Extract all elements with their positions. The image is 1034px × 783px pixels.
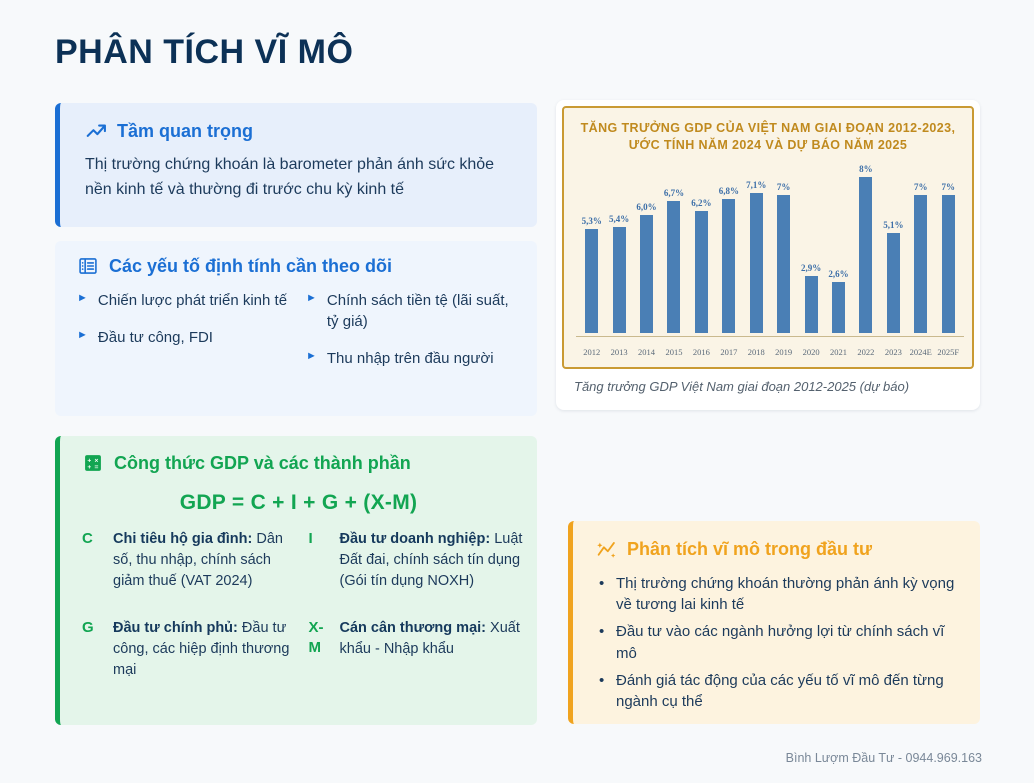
- chart-bar: [667, 201, 680, 333]
- list-item: •Đầu tư vào các ngành hưởng lợi từ chính…: [599, 621, 960, 665]
- dot-bullet-icon: •: [599, 573, 606, 617]
- list-item-label: Đánh giá tác động của các yếu tố vĩ mô đ…: [616, 670, 960, 714]
- qualitative-left-column: ► Chiến lược phát triển kinh tế ► Đầu tư…: [77, 290, 292, 386]
- chart-bar-value-label: 2,6%: [828, 269, 848, 279]
- analytics-sparkle-icon: [595, 538, 617, 560]
- arrow-bullet-icon: ►: [77, 327, 88, 348]
- chart-x-tick-label: 2017: [715, 347, 742, 357]
- svg-text:×: ×: [95, 458, 99, 465]
- svg-text:+: +: [87, 458, 91, 465]
- gdp-component-text: Đầu tư chính phủ: Đầu tư công, các hiệp …: [113, 618, 297, 681]
- gdp-card-header: + × + = Công thức GDP và các thành phần: [60, 436, 537, 475]
- chart-x-tick-label: 2012: [578, 347, 605, 357]
- chart-bar-value-label: 6,2%: [691, 198, 711, 208]
- list-item: ► Đầu tư công, FDI: [77, 327, 292, 348]
- gdp-symbol: C: [82, 529, 104, 592]
- qualitative-columns: ► Chiến lược phát triển kinh tế ► Đầu tư…: [55, 278, 537, 386]
- chart-bar-value-label: 5,1%: [883, 220, 903, 230]
- chart-bar-group: 7%: [770, 164, 797, 333]
- calculator-icon: + × + =: [82, 452, 104, 474]
- chart-bar-group: 8%: [852, 164, 879, 333]
- chart-x-tick-label: 2018: [743, 347, 770, 357]
- list-item-label: Đầu tư công, FDI: [98, 327, 213, 348]
- chart-bar: [585, 229, 598, 333]
- chart-bar: [832, 282, 845, 333]
- qualitative-card-header: Các yếu tố định tính cần theo dõi: [55, 241, 537, 278]
- chart-x-tick-label: 2013: [605, 347, 632, 357]
- chart-bar: [887, 233, 900, 333]
- chart-x-tick-label: 2024E: [907, 347, 934, 357]
- chart-x-tick-label: 2016: [688, 347, 715, 357]
- gdp-growth-chart-card: TĂNG TRƯỞNG GDP CỦA VIỆT NAM GIAI ĐOẠN 2…: [556, 100, 980, 410]
- invest-card-title: Phân tích vĩ mô trong đầu tư: [627, 538, 872, 561]
- chart-x-tick-label: 2021: [825, 347, 852, 357]
- chart-bar-value-label: 2,9%: [801, 263, 821, 273]
- gdp-component-text: Cán cân thương mại: Xuất khẩu - Nhập khẩ…: [340, 618, 524, 660]
- chart-bar: [750, 193, 763, 333]
- list-item-label: Đầu tư vào các ngành hưởng lợi từ chính …: [616, 621, 960, 665]
- list-item: •Đánh giá tác động của các yếu tố vĩ mô …: [599, 670, 960, 714]
- chart-plot-area: 5,3%5,4%6,0%6,7%6,2%6,8%7,1%7%2,9%2,6%8%…: [578, 164, 962, 333]
- list-item-label: Chính sách tiền tệ (lãi suất, tỷ giá): [327, 290, 521, 333]
- importance-card-title: Tầm quan trọng: [117, 120, 253, 143]
- chart-bar-value-label: 7%: [914, 182, 928, 192]
- gdp-formula-card: + × + = Công thức GDP và các thành phần …: [55, 436, 537, 725]
- importance-card: Tầm quan trọng Thị trường chứng khoán là…: [55, 103, 537, 227]
- gdp-component-label: Chi tiêu hộ gia đình:: [113, 531, 252, 547]
- chart-x-tick-label: 2014: [633, 347, 660, 357]
- chart-bar-group: 6,0%: [633, 164, 660, 333]
- chart-bar-group: 5,4%: [605, 164, 632, 333]
- chart-bar-group: 6,8%: [715, 164, 742, 333]
- chart-bar-group: 5,3%: [578, 164, 605, 333]
- chart-x-tick-label: 2022: [852, 347, 879, 357]
- svg-text:=: =: [95, 464, 99, 471]
- chart-caption: Tăng trưởng GDP Việt Nam giai đoạn 2012-…: [562, 369, 974, 394]
- list-item-label: Chiến lược phát triển kinh tế: [98, 290, 287, 311]
- list-item: ► Thu nhập trên đầu người: [306, 348, 521, 369]
- gdp-component: G Đầu tư chính phủ: Đầu tư công, các hiệ…: [82, 618, 297, 695]
- chart-x-tick-labels: 2012201320142015201620172018201920202021…: [578, 347, 962, 357]
- gdp-card-title: Công thức GDP và các thành phần: [114, 452, 411, 475]
- chart-bar-value-label: 6,0%: [636, 202, 656, 212]
- gdp-component: I Đầu tư doanh nghiệp: Luật Đất đai, chí…: [309, 529, 524, 606]
- list-item: •Thị trường chứng khoán thường phản ánh …: [599, 573, 960, 617]
- chart-bar-group: 7%: [907, 164, 934, 333]
- chart-x-axis: [576, 336, 964, 337]
- chart-x-tick-label: 2019: [770, 347, 797, 357]
- qualitative-card-title: Các yếu tố định tính cần theo dõi: [109, 255, 392, 278]
- gdp-component-label: Cán cân thương mại:: [340, 620, 487, 636]
- chart-bar: [914, 195, 927, 333]
- gdp-symbol: G: [82, 618, 104, 681]
- chart-bar: [613, 227, 626, 333]
- chart-bar-group: 7,1%: [743, 164, 770, 333]
- dot-bullet-icon: •: [599, 670, 606, 714]
- chart-bar-value-label: 6,7%: [664, 188, 684, 198]
- gdp-component-label: Đầu tư doanh nghiệp:: [340, 531, 491, 547]
- chart-bar: [722, 199, 735, 333]
- importance-card-body: Thị trường chứng khoán là barometer phản…: [60, 143, 537, 204]
- chart-bar-value-label: 8%: [859, 164, 873, 174]
- chart-bar: [859, 177, 872, 333]
- list-item: ► Chiến lược phát triển kinh tế: [77, 290, 292, 311]
- gdp-component: C Chi tiêu hộ gia đình: Dân số, thu nhập…: [82, 529, 297, 606]
- gdp-component-label: Đầu tư chính phủ:: [113, 620, 238, 636]
- list-item: ► Chính sách tiền tệ (lãi suất, tỷ giá): [306, 290, 521, 333]
- footer-credit: Bình Lượm Đầu Tư - 0944.969.163: [786, 751, 982, 765]
- arrow-bullet-icon: ►: [306, 348, 317, 369]
- page-title: PHÂN TÍCH VĨ MÔ: [55, 32, 353, 73]
- chart-x-tick-label: 2020: [797, 347, 824, 357]
- svg-text:+: +: [87, 464, 91, 471]
- chart-title: TĂNG TRƯỞNG GDP CỦA VIỆT NAM GIAI ĐOẠN 2…: [576, 120, 960, 155]
- chart-bar-value-label: 6,8%: [719, 186, 739, 196]
- arrow-bullet-icon: ►: [77, 290, 88, 311]
- chart-bar-group: 6,2%: [688, 164, 715, 333]
- chart-bar-group: 5,1%: [880, 164, 907, 333]
- chart-bar: [777, 195, 790, 333]
- qualitative-factors-card: Các yếu tố định tính cần theo dõi ► Chiế…: [55, 241, 537, 416]
- chart-bar-group: 7%: [934, 164, 961, 333]
- gdp-component: X-M Cán cân thương mại: Xuất khẩu - Nhập…: [309, 618, 524, 695]
- chart-frame: TĂNG TRƯỞNG GDP CỦA VIỆT NAM GIAI ĐOẠN 2…: [562, 106, 974, 369]
- chart-bar-group: 6,7%: [660, 164, 687, 333]
- chart-bar-group: 2,6%: [825, 164, 852, 333]
- gdp-symbol: X-M: [309, 618, 331, 660]
- chart-bar: [805, 276, 818, 333]
- list-item-label: Thị trường chứng khoán thường phản ánh k…: [616, 573, 960, 617]
- investment-analysis-card: Phân tích vĩ mô trong đầu tư •Thị trường…: [568, 521, 980, 724]
- qualitative-right-column: ► Chính sách tiền tệ (lãi suất, tỷ giá) …: [306, 290, 521, 386]
- gdp-symbol: I: [309, 529, 331, 592]
- arrow-bullet-icon: ►: [306, 290, 317, 333]
- chart-bar: [640, 215, 653, 333]
- invest-bullet-list: •Thị trường chứng khoán thường phản ánh …: [573, 561, 980, 714]
- chart-bar: [942, 195, 955, 333]
- list-item-label: Thu nhập trên đầu người: [327, 348, 494, 369]
- chart-bar-value-label: 5,3%: [582, 216, 602, 226]
- chart-x-tick-label: 2025F: [934, 347, 961, 357]
- dot-bullet-icon: •: [599, 621, 606, 665]
- trending-up-icon: [85, 120, 107, 142]
- gdp-formula: GDP = C + I + G + (X-M): [60, 475, 537, 519]
- importance-card-header: Tầm quan trọng: [60, 103, 537, 143]
- chart-bar-value-label: 7%: [941, 182, 955, 192]
- chart-bar-value-label: 5,4%: [609, 214, 629, 224]
- gdp-components-grid: C Chi tiêu hộ gia đình: Dân số, thu nhập…: [60, 519, 537, 695]
- chart-x-tick-label: 2015: [660, 347, 687, 357]
- chart-bar-value-label: 7%: [777, 182, 791, 192]
- gdp-component-text: Đầu tư doanh nghiệp: Luật Đất đai, chính…: [340, 529, 524, 592]
- invest-card-header: Phân tích vĩ mô trong đầu tư: [573, 521, 980, 561]
- chart-x-tick-label: 2023: [880, 347, 907, 357]
- chart-bar-group: 2,9%: [797, 164, 824, 333]
- chart-bar-value-label: 7,1%: [746, 180, 766, 190]
- list-table-icon: [77, 255, 99, 277]
- chart-bar: [695, 211, 708, 333]
- gdp-component-text: Chi tiêu hộ gia đình: Dân số, thu nhập, …: [113, 529, 297, 592]
